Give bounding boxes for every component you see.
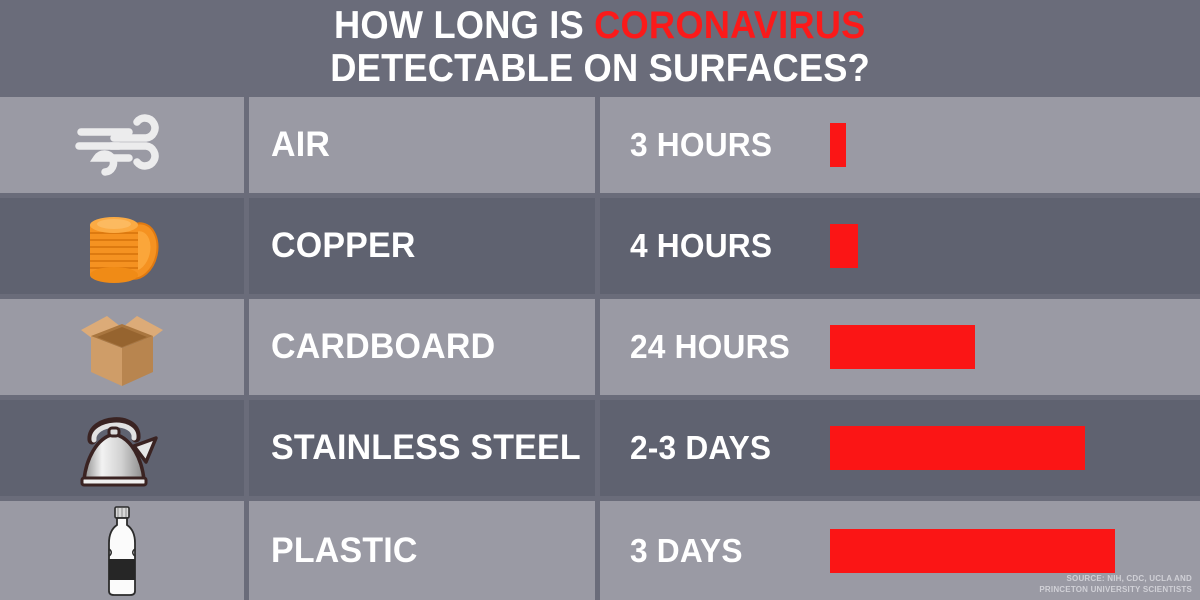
icon-cell-stainless-steel bbox=[0, 400, 244, 496]
surface-label: STAINLESS STEEL bbox=[271, 428, 581, 468]
cardboard-box-icon bbox=[62, 305, 182, 389]
duration-label: 3 HOURS bbox=[630, 126, 822, 164]
plastic-bottle-icon bbox=[62, 509, 182, 593]
bar-cell-copper: 4 HOURS bbox=[600, 198, 1200, 294]
icon-cell-cardboard bbox=[0, 299, 244, 395]
surface-label: PLASTIC bbox=[271, 531, 418, 571]
table-row-stainless-steel: STAINLESS STEEL 2-3 DAYS bbox=[0, 400, 1200, 496]
title-line-2: DETECTABLE ON SURFACES? bbox=[330, 49, 870, 90]
duration-bar bbox=[830, 529, 1115, 573]
label-cell-stainless-steel: STAINLESS STEEL bbox=[249, 400, 595, 496]
coin-stack-icon bbox=[62, 204, 182, 288]
source-line-1: SOURCE: NIH, CDC, UCLA AND bbox=[1039, 574, 1192, 585]
table-row-plastic: PLASTIC 3 DAYS bbox=[0, 501, 1200, 600]
header: HOW LONG IS CORONAVIRUS DETECTABLE ON SU… bbox=[0, 0, 1200, 96]
source-note: SOURCE: NIH, CDC, UCLA AND PRINCETON UNI… bbox=[1039, 574, 1192, 596]
bar-cell-stainless-steel: 2-3 DAYS bbox=[600, 400, 1200, 496]
duration-label: 24 HOURS bbox=[630, 328, 822, 366]
icon-cell-air bbox=[0, 97, 244, 193]
source-line-2: PRINCETON UNIVERSITY SCIENTISTS bbox=[1039, 585, 1192, 596]
duration-bar bbox=[830, 123, 846, 167]
kettle-icon bbox=[62, 406, 182, 490]
icon-cell-plastic bbox=[0, 501, 244, 600]
label-cell-copper: COPPER bbox=[249, 198, 595, 294]
surface-label: CARDBOARD bbox=[271, 327, 495, 367]
duration-bar bbox=[830, 426, 1085, 470]
table-row-cardboard: CARDBOARD 24 HOURS bbox=[0, 299, 1200, 395]
surface-label: AIR bbox=[271, 125, 330, 165]
surface-label: COPPER bbox=[271, 226, 416, 266]
label-cell-cardboard: CARDBOARD bbox=[249, 299, 595, 395]
duration-bar bbox=[830, 224, 858, 268]
table-row-copper: COPPER 4 HOURS bbox=[0, 198, 1200, 294]
title-prefix: HOW LONG IS bbox=[334, 4, 594, 47]
duration-label: 4 HOURS bbox=[630, 227, 822, 265]
infographic-root: HOW LONG IS CORONAVIRUS DETECTABLE ON SU… bbox=[0, 0, 1200, 600]
label-cell-air: AIR bbox=[249, 97, 595, 193]
icon-cell-copper bbox=[0, 198, 244, 294]
wind-icon bbox=[62, 103, 182, 187]
title-line-1: HOW LONG IS CORONAVIRUS bbox=[334, 6, 866, 47]
table-row-air: AIR 3 HOURS bbox=[0, 97, 1200, 193]
bar-cell-cardboard: 24 HOURS bbox=[600, 299, 1200, 395]
duration-label: 3 DAYS bbox=[630, 532, 822, 570]
title-accent-coronavirus: CORONAVIRUS bbox=[594, 4, 865, 47]
label-cell-plastic: PLASTIC bbox=[249, 501, 595, 600]
bar-cell-air: 3 HOURS bbox=[600, 97, 1200, 193]
duration-bar bbox=[830, 325, 975, 369]
duration-label: 2-3 DAYS bbox=[630, 429, 822, 467]
